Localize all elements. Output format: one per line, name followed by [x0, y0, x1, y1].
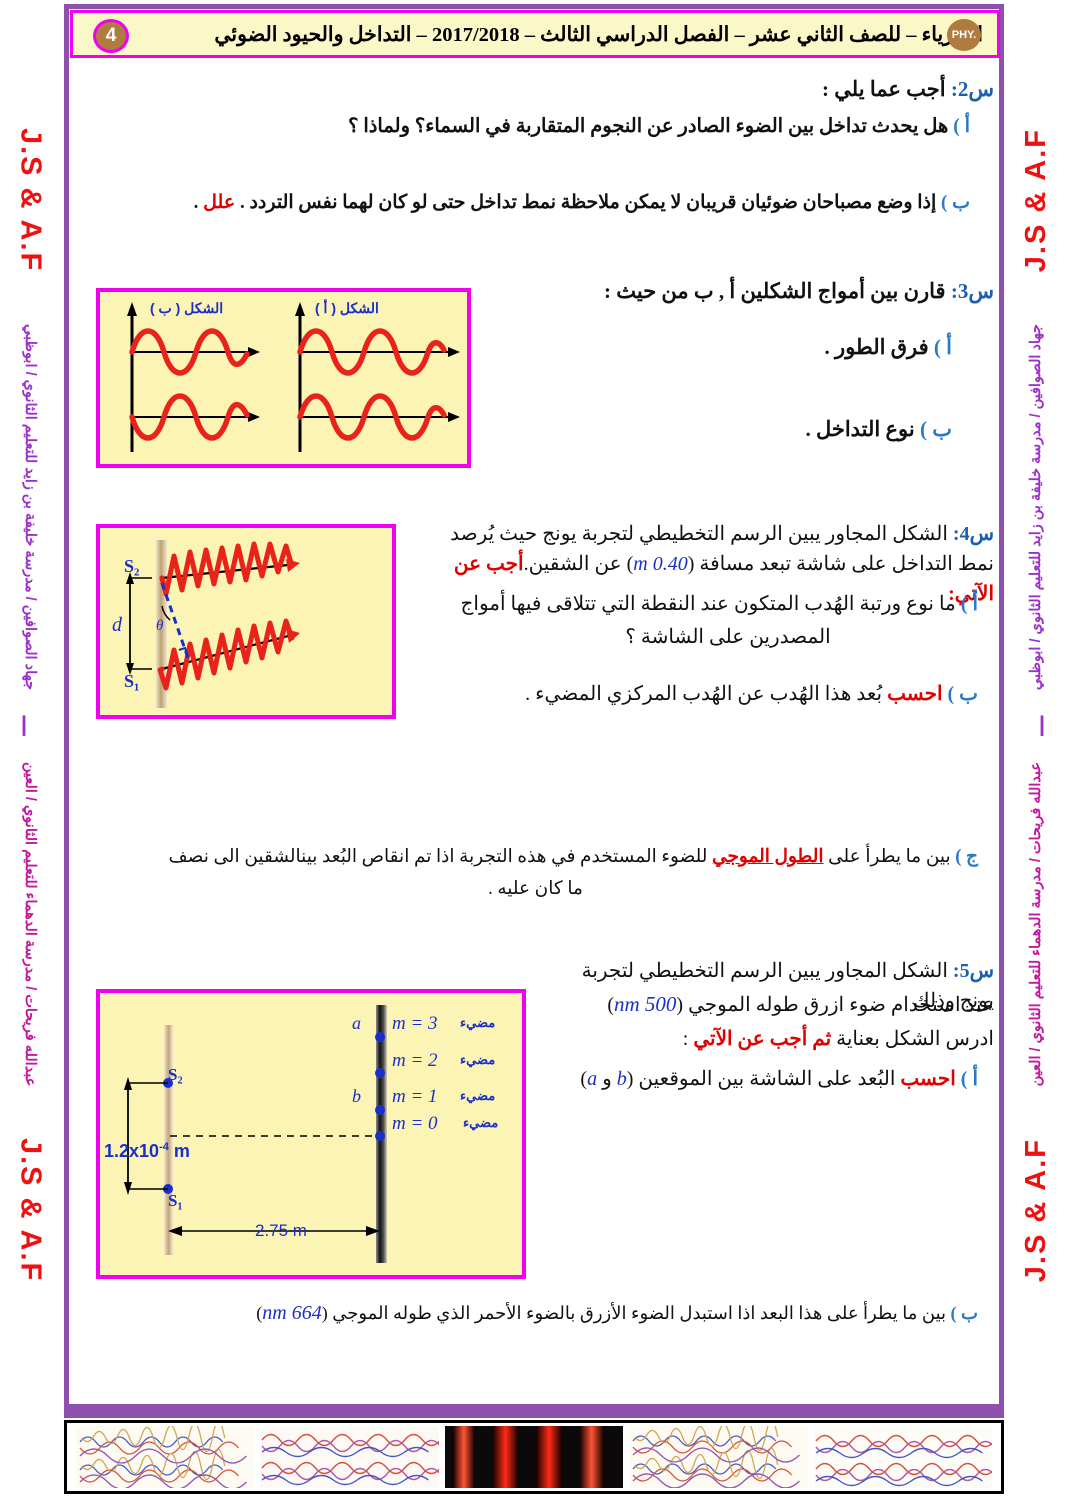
question-3-a-label: أ )	[934, 335, 952, 359]
question-4-c-label: ج )	[955, 847, 978, 867]
question-4-c-post: للضوء المستخدم في هذه التجربة اذا تم انق…	[169, 847, 708, 867]
worksheet-content: س2: أجب عما يلي : أ ) هل يحدث تداخل بين …	[70, 64, 1000, 1404]
question-4-a-label: أ )	[961, 593, 978, 615]
question-2-b-tail: .	[194, 192, 199, 213]
thumbnail-calligraphy-pattern-2	[260, 1426, 438, 1488]
question-2-part-a: أ ) هل يحدث تداخل بين الضوء الصادر عن ال…	[348, 112, 970, 141]
question-2-b-label: ب )	[941, 192, 970, 213]
question-3-part-b: ب ) نوع التداخل .	[805, 414, 952, 446]
question-4-c-wavelength-term: الطول الموجي	[712, 847, 823, 867]
fringe-type-m2: مضيء	[460, 1052, 495, 1068]
question-4-b-text: بُعد هذا الهُدب عن الهُدب المركزي المضيء…	[525, 683, 882, 705]
fringe-marker-m0	[375, 1131, 385, 1141]
question-5-answer-cue: ثم أجب عن الآتي	[693, 1028, 831, 1050]
slit-label-s1: S₁	[124, 671, 139, 692]
question-5-a-text: البُعد على الشاشة بين الموقعين (	[627, 1068, 896, 1090]
question-2-stem-text: أجب عما يلي :	[822, 77, 946, 101]
question-4-number: س4:	[953, 523, 994, 545]
question-3-b-label: ب )	[920, 417, 952, 441]
question-5-point-a: a	[587, 1068, 597, 1090]
question-4-c-pre: بين ما يطرأ على	[828, 847, 951, 867]
initials-label-left-bottom: J.S & A.F	[14, 1138, 47, 1282]
question-4-part-b: ب ) احسب بُعد هذا الهُدب عن الهُدب المرك…	[448, 679, 978, 709]
slit-separation-label-d: d	[112, 614, 122, 637]
page-number-badge: 4	[93, 19, 129, 53]
question-3-stem: س3: قارن بين أمواج الشكلين أ , ب من حيث …	[604, 276, 994, 308]
worksheet-page: 4 الفيزياء – للصف الثاني عشر – الفصل الد…	[0, 0, 1067, 1500]
question-2-b-text: إذا وضع مصباحان ضوئيان قريبان لا يمكن مل…	[240, 192, 936, 213]
fringe-order-m3: m = 3	[392, 1013, 438, 1035]
question-5-red-wavelength: 664 nm	[262, 1302, 321, 1324]
bottom-accent-bar	[64, 1409, 1004, 1418]
question-5-part-a: أ ) احسب البُعد على الشاشة بين الموقعين …	[548, 1064, 978, 1094]
question-5-a-label: أ )	[961, 1068, 978, 1090]
question-3-part-a: أ ) فرق الطور .	[825, 332, 952, 364]
question-5-point-b: b	[617, 1068, 627, 1090]
question-5-number: س5:	[953, 960, 994, 982]
figure-q3-svg	[100, 292, 467, 464]
question-2-a-text: هل يحدث تداخل بين الضوء الصادر عن النجوم…	[348, 116, 948, 137]
question-5-a-red-cue: احسب	[900, 1068, 955, 1090]
teacher-name-left-1: جهاد الصوافين / مدرسة خليفة بن زايد للتع…	[22, 324, 38, 690]
question-4-a-text-2: المصدرين على الشاشة ؟	[625, 626, 830, 648]
side-strip-right: J.S & A.F جهاد الصوافين / مدرسة خليفة بن…	[1008, 0, 1064, 1410]
subject-badge: PHY.	[947, 19, 981, 51]
question-5-stem-line2-post: )	[607, 994, 614, 1016]
question-3-stem-text: قارن بين أمواج الشكلين أ , ب من حيث :	[604, 279, 946, 303]
separator-left: ـــ	[17, 716, 43, 735]
question-2-stem: س2: أجب عما يلي :	[822, 74, 994, 106]
question-5-stem-line3-post: :	[683, 1028, 689, 1050]
question-5-stem-line2-pre: عند استخدام ضوء ازرق طوله الموجي (	[676, 994, 994, 1016]
fringe-order-m0: m = 0	[392, 1113, 438, 1135]
question-5-stem-line2: عند استخدام ضوء ازرق طوله الموجي (500 nm…	[554, 989, 994, 1021]
slit-separation-unit: m	[174, 1141, 190, 1161]
separator-right: ـــ	[1023, 716, 1049, 735]
initials-label-right-bottom: J.S & A.F	[1020, 1138, 1053, 1282]
teacher-name-right-2: عبدالله فريحات / مدرسة الدهماء للتعليم ا…	[1028, 762, 1044, 1086]
page-header-banner: 4 الفيزياء – للصف الثاني عشر – الفصل الد…	[70, 10, 1000, 58]
fig5-slit-label-s1: S₁	[168, 1191, 183, 1211]
question-4-stem-line2-post: ) عن الشقين.	[524, 553, 634, 575]
question-2-a-label: أ )	[953, 116, 970, 137]
teacher-name-right-1: جهاد الصوافين / مدرسة خليفة بن زايد للتع…	[1028, 324, 1044, 690]
figure-alif-label: الشكل ( أ )	[315, 300, 379, 317]
question-4-a-text-1: ما نوع ورتبة الهُدب المتكون عند النقطة ا…	[460, 593, 955, 615]
bottom-image-strip	[64, 1420, 1004, 1494]
slit-separation-mantissa: 1.2x10	[104, 1141, 159, 1161]
question-3-b-text: نوع التداخل .	[805, 417, 914, 441]
fringe-marker-m3	[375, 1032, 385, 1042]
figure-baa-group	[127, 302, 260, 452]
slit-label-s2: S₂	[124, 556, 139, 577]
question-3-number: س3:	[951, 279, 994, 303]
question-5-wavelength-blue: 500 nm	[614, 992, 676, 1016]
question-5-a-and: و	[602, 1068, 612, 1090]
question-4-part-c: ج ) بين ما يطرأ على الطول الموجي للضوء ا…	[93, 844, 978, 872]
question-4-part-c-cont: ما كان عليه .	[93, 876, 978, 904]
fringe-type-m3: مضيء	[460, 1015, 495, 1031]
thumbnail-calligraphy-pattern-3	[629, 1426, 807, 1488]
figure-alif-group	[295, 302, 460, 452]
question-5-b-text-pre: بين ما يطرأ على هذا البعد اذا استبدل الض…	[322, 1303, 946, 1323]
fig5-slit-label-s2: S₂	[168, 1065, 183, 1085]
question-5-stem-line3-pre: ادرس الشكل بعناية	[836, 1028, 994, 1050]
fringe-type-m1: مضيء	[460, 1088, 495, 1104]
question-4-part-a-cont: المصدرين على الشاشة ؟	[478, 622, 978, 652]
fringe-point-b-label: b	[352, 1086, 361, 1107]
figure-baa-label: الشكل ( ب )	[150, 300, 223, 317]
question-4-b-label: ب )	[948, 683, 979, 705]
fringe-marker-m2	[375, 1068, 385, 1078]
screen-distance-label: 2.75 m	[255, 1221, 307, 1241]
initials-label-left-top: J.S & A.F	[14, 128, 47, 272]
fringe-marker-m1	[375, 1105, 385, 1115]
fringe-point-a-label: a	[352, 1013, 361, 1034]
fringe-type-m0: مضيء	[463, 1115, 498, 1131]
figure-q3-waveforms: الشكل ( أ ) الشكل ( ب )	[96, 288, 471, 468]
question-4-part-a: أ ) ما نوع ورتبة الهُدب المتكون عند النق…	[448, 589, 978, 619]
question-2-number: س2:	[951, 77, 994, 101]
figure-q4-svg	[100, 528, 392, 715]
angle-label-theta: θ	[156, 618, 163, 635]
fringe-order-m1: m = 1	[392, 1086, 438, 1108]
question-4-c-line2: ما كان عليه .	[488, 879, 583, 899]
slit-separation-value: 1.2x10-4 m	[104, 1141, 190, 1162]
figure-q4-young-double-slit: S₂ S₁ d θ	[96, 524, 396, 719]
teacher-name-left-2: عبدالله فريحات / مدرسة الدهماء للتعليم ا…	[22, 762, 38, 1086]
slit-separation-exponent: -4	[159, 1141, 169, 1153]
side-strip-left: J.S & A.F جهاد الصوافين / مدرسة خليفة بن…	[2, 0, 58, 1410]
slit-barrier	[164, 1025, 173, 1255]
question-5-b-label: ب )	[951, 1303, 978, 1323]
page-title: الفيزياء – للصف الثاني عشر – الفصل الدرا…	[214, 22, 983, 47]
thumbnail-interference-fringes	[445, 1426, 623, 1488]
fringe-order-m2: m = 2	[392, 1050, 438, 1072]
question-3-a-text: فرق الطور .	[825, 335, 929, 359]
question-2-b-red-cue: علل	[203, 192, 235, 213]
question-5-stem-line3: ادرس الشكل بعناية ثم أجب عن الآتي :	[554, 1024, 994, 1054]
question-4-distance-value: 0.40 m	[633, 553, 687, 575]
question-4-b-red-cue: احسب	[887, 683, 942, 705]
figure-q5-svg	[100, 993, 522, 1275]
figure-q5-young-screen: S₂ S₁ 1.2x10-4 m 2.75 m a m = 3 مضيء m =…	[96, 989, 526, 1279]
initials-label-right-top: J.S & A.F	[1020, 128, 1053, 272]
question-5-part-b: ب ) بين ما يطرأ على هذا البعد اذا استبدل…	[93, 1298, 978, 1328]
question-4-stem-line2-pre: التداخل على شاشة تبعد مسافة (	[688, 553, 953, 575]
question-2-part-b: ب ) إذا وضع مصباحان ضوئيان قريبان لا يمك…	[194, 189, 970, 218]
thumbnail-calligraphy-pattern-1	[76, 1426, 254, 1488]
thumbnail-calligraphy-pattern-4	[814, 1426, 992, 1488]
